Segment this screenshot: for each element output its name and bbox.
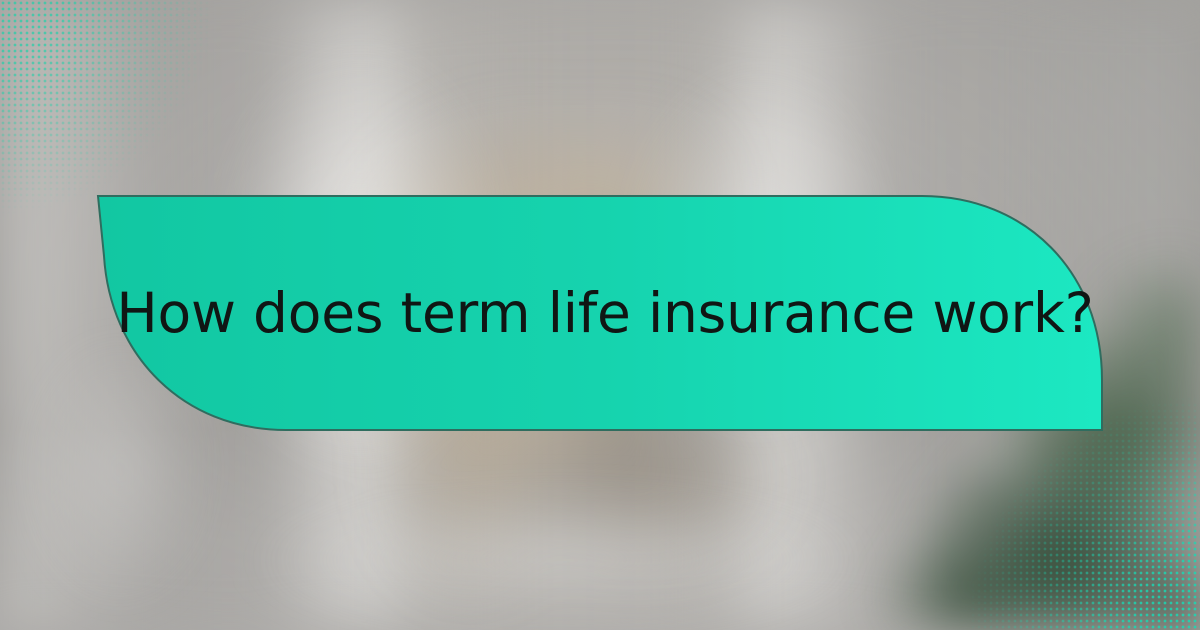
page-title: How does term life insurance work? <box>96 194 1104 432</box>
share-card: How does term life insurance work? <box>0 0 1200 630</box>
halftone-dots-top-left-icon <box>0 0 210 215</box>
title-banner: How does term life insurance work? <box>96 194 1104 432</box>
